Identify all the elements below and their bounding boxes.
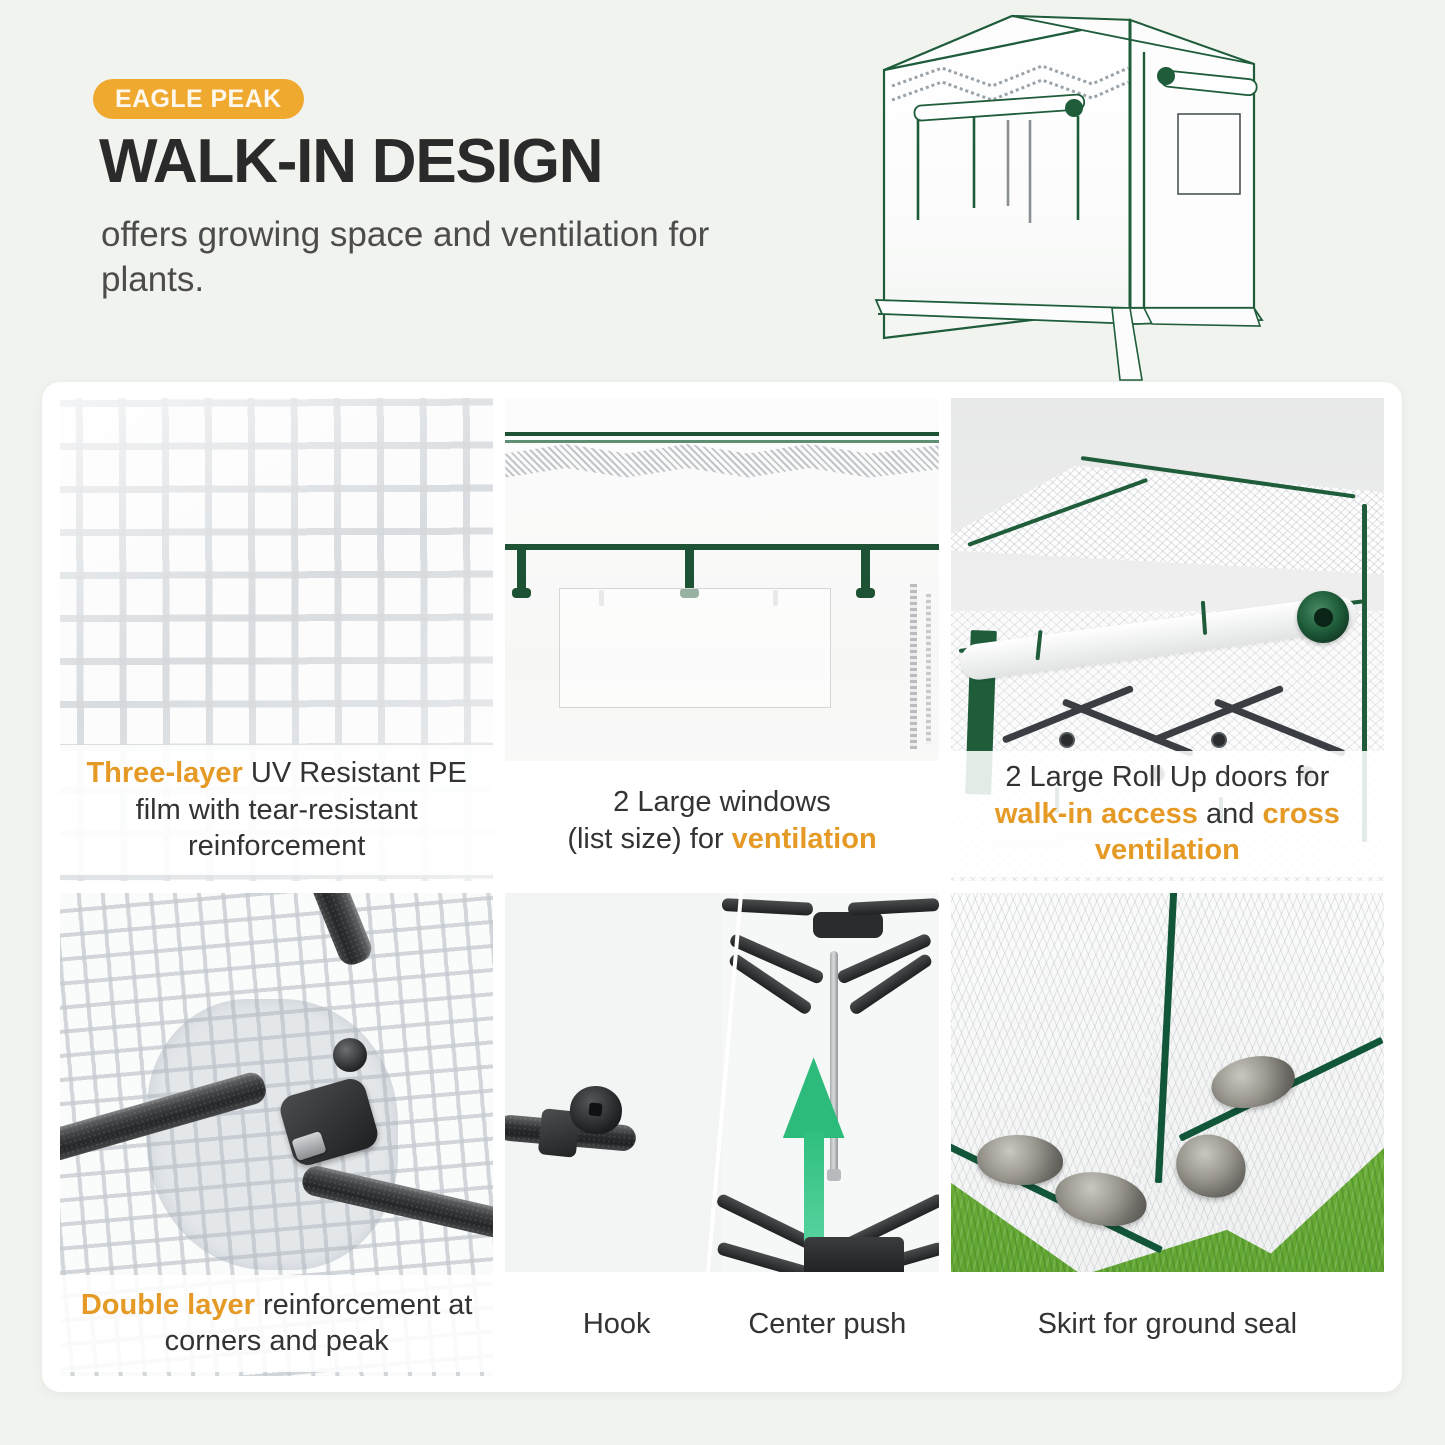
joint-knob xyxy=(333,1038,367,1072)
feature-cell-three-layer-film[interactable]: Three-layer UV Resistant PE film with te… xyxy=(60,398,493,881)
page-subtitle: offers growing space and ventilation for… xyxy=(101,213,801,303)
header: EAGLE PEAK WALK-IN DESIGN offers growing… xyxy=(0,0,1445,380)
feature-cell-large-windows[interactable]: 2 Large windows (list size) for ventilat… xyxy=(505,398,938,881)
caption-hook: Hook xyxy=(511,1306,722,1343)
feature-caption: 2 Large windows (list size) for ventilat… xyxy=(505,761,938,881)
feature-grid: Three-layer UV Resistant PE film with te… xyxy=(60,398,1384,1376)
caption-line-1: 2 Large Roll Up doors for xyxy=(957,759,1378,796)
caption-highlight: ventilation xyxy=(732,823,877,855)
caption-line-1: 2 Large windows xyxy=(511,784,932,821)
caption-highlight: Double layer xyxy=(81,1289,255,1321)
caption-rest: (list size) for xyxy=(567,823,731,855)
caption-mid: and xyxy=(1198,798,1263,830)
feature-cell-double-layer-corners[interactable]: Double layer reinforcement at corners an… xyxy=(60,893,493,1376)
feature-caption: 2 Large Roll Up doors for walk-in access… xyxy=(951,751,1384,877)
top-hub xyxy=(813,912,883,938)
caption-center-push: Center push xyxy=(722,1306,933,1343)
feature-caption: Skirt for ground seal xyxy=(951,1272,1384,1376)
feature-caption: Three-layer UV Resistant PE film with te… xyxy=(60,745,493,875)
feature-cell-ground-skirt[interactable]: Skirt for ground seal xyxy=(951,893,1384,1376)
feature-cell-hook-center-push[interactable]: Hook Center push xyxy=(505,893,938,1376)
caption-line-2: (list size) for ventilation xyxy=(511,821,932,858)
feature-caption: Hook Center push xyxy=(505,1272,938,1376)
caption-highlight-1: walk-in access xyxy=(995,798,1198,830)
walk-in-greenhouse-illustration xyxy=(862,8,1282,390)
brand-badge: EAGLE PEAK xyxy=(93,79,304,119)
up-arrow-icon xyxy=(783,1057,845,1250)
page-title: WALK-IN DESIGN xyxy=(99,131,602,193)
feature-caption: Double layer reinforcement at corners an… xyxy=(60,1275,493,1372)
caption-line-2: walk-in access and cross ventilation xyxy=(957,796,1378,869)
caption-highlight: Three-layer xyxy=(86,757,242,789)
feature-card: Three-layer UV Resistant PE film with te… xyxy=(42,382,1402,1392)
feature-cell-roll-up-doors[interactable]: 2 Large Roll Up doors for walk-in access… xyxy=(951,398,1384,881)
